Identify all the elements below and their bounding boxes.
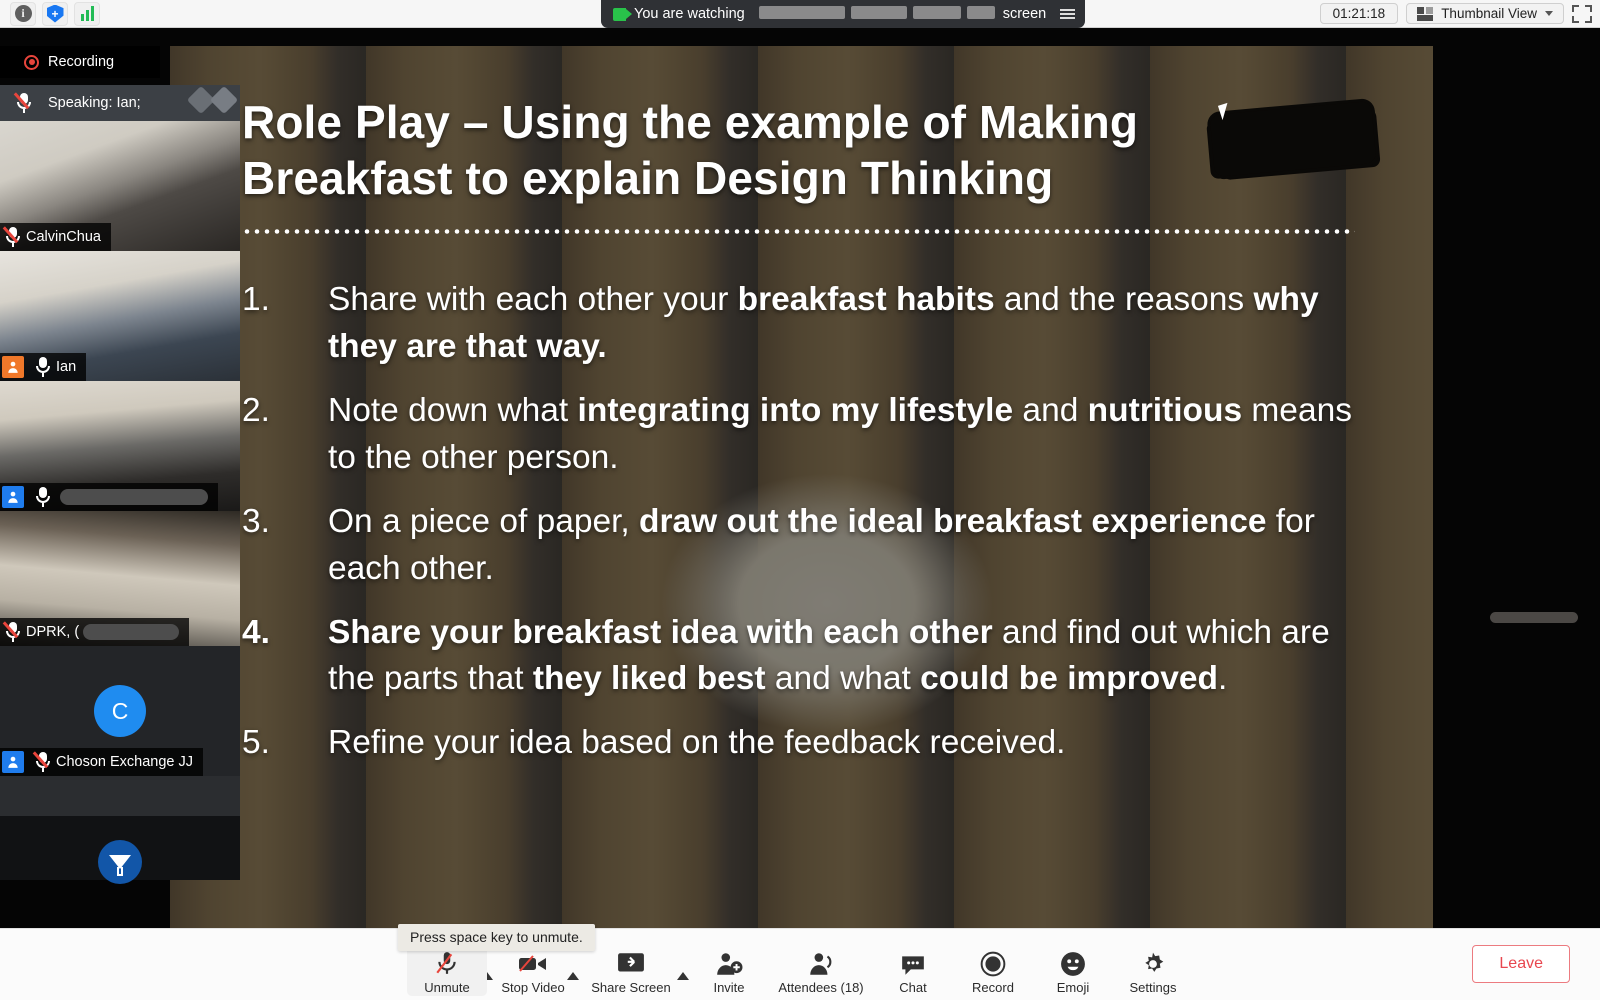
toolbar-button-invite[interactable]: Invite <box>689 934 769 996</box>
recording-indicator[interactable]: Recording <box>0 46 160 78</box>
mic-icon <box>30 487 56 507</box>
toolbar-button-label: Emoji <box>1057 981 1090 995</box>
redacted-screen-name <box>753 6 995 23</box>
avatar-badge-icon <box>2 751 24 773</box>
slide-step: 2.Note down what integrating into my lif… <box>242 388 1389 482</box>
step-text-plain: On a piece of paper, <box>328 503 639 540</box>
participant-tile[interactable] <box>0 381 240 511</box>
presentation-slide: Role Play – Using the example of Making … <box>170 46 1433 928</box>
step-text: Share with each other your breakfast hab… <box>328 277 1373 371</box>
redacted-block <box>851 6 907 19</box>
expand-icon[interactable] <box>1572 5 1592 23</box>
unmute-tooltip: Press space key to unmute. <box>398 924 595 951</box>
step-text: Share your breakfast idea with each othe… <box>328 610 1373 704</box>
os-icon-group: i + <box>0 2 100 26</box>
slide-step-list: 1.Share with each other your breakfast h… <box>242 277 1389 767</box>
signal-bars-icon[interactable] <box>74 2 100 26</box>
step-text-plain: and what <box>766 660 921 697</box>
record-dot-icon <box>24 55 39 70</box>
step-number: 2. <box>242 388 328 482</box>
participant-tile[interactable]: CalvinChua <box>0 121 240 251</box>
toolbar-button-label: Unmute <box>424 981 470 995</box>
toolbar-button-record[interactable]: Record <box>953 934 1033 996</box>
participant-name-bar: Ian <box>0 353 86 381</box>
step-text-plain: . <box>1218 660 1227 697</box>
redacted-block <box>967 6 995 19</box>
participant-name-bar: Choson Exchange JJ <box>0 748 203 776</box>
mic-muted-icon <box>0 93 48 113</box>
invite-person-icon <box>715 947 743 977</box>
toolbar-button-chat[interactable]: Chat <box>873 934 953 996</box>
attendees-icon <box>807 947 835 977</box>
gear-icon <box>1140 947 1166 977</box>
recording-label: Recording <box>48 54 114 70</box>
toolbar-button-label: Chat <box>899 981 926 995</box>
step-number: 5. <box>242 720 328 767</box>
participant-name: CalvinChua <box>26 229 101 245</box>
redacted-block <box>60 489 208 505</box>
participant-tiles: CalvinChuaIanDPRK, (CChoson Exchange JJ <box>0 121 240 816</box>
participant-name: Ian <box>56 359 76 375</box>
mic-muted-icon <box>434 947 460 977</box>
slide-title: Role Play – Using the example of Making … <box>242 94 1252 206</box>
participant-filmstrip: Speaking: Ian; CalvinChuaIanDPRK, (CChos… <box>0 85 240 880</box>
redacted-block <box>83 624 179 640</box>
toolbar-button-label: Stop Video <box>501 981 564 995</box>
toolbar-button-label: Settings <box>1130 981 1177 995</box>
avatar: C <box>94 685 146 737</box>
participant-name-bar: CalvinChua <box>0 223 111 251</box>
step-text-emphasis: integrating into my lifestyle <box>578 392 1014 429</box>
mic-muted-icon <box>30 752 56 772</box>
step-text-plain: Refine your idea based on the feedback r… <box>328 724 1066 761</box>
leave-button[interactable]: Leave <box>1472 945 1570 983</box>
panel-collapse-handle[interactable] <box>1490 612 1578 623</box>
slide-step: 5.Refine your idea based on the feedback… <box>242 720 1389 767</box>
step-number: 4. <box>242 610 328 704</box>
slide-step: 3.On a piece of paper, draw out the idea… <box>242 499 1389 593</box>
slide-content: Role Play – Using the example of Making … <box>170 46 1433 928</box>
shield-icon[interactable]: + <box>42 2 68 26</box>
bars-glyph <box>81 6 94 21</box>
mic-muted-icon <box>0 227 26 247</box>
step-text: Note down what integrating into my lifes… <box>328 388 1373 482</box>
redacted-block <box>759 6 845 19</box>
info-glyph: i <box>15 5 32 22</box>
speaker-icon <box>613 8 626 21</box>
step-text-emphasis: draw out the ideal breakfast experience <box>639 503 1266 540</box>
meeting-timer: 01:21:18 <box>1320 3 1399 24</box>
toolbar-button-attendees-18[interactable]: Attendees (18) <box>769 934 873 996</box>
avatar-badge-icon <box>2 486 24 508</box>
step-text: On a piece of paper, draw out the ideal … <box>328 499 1373 593</box>
filmstrip-filler <box>0 776 240 816</box>
step-text-emphasis: Share your breakfast idea with each othe… <box>328 614 993 651</box>
chevron-down-icon <box>1545 11 1553 16</box>
video-icon <box>518 947 548 977</box>
step-text-emphasis: breakfast habits <box>738 281 995 318</box>
step-text: Refine your idea based on the feedback r… <box>328 720 1373 767</box>
view-selector-label: Thumbnail View <box>1441 6 1537 21</box>
toolbar-button-label: Invite <box>713 981 744 995</box>
view-selector[interactable]: Thumbnail View <box>1406 3 1564 24</box>
toolbar-button-label: Record <box>972 981 1014 995</box>
scroll-down-icon[interactable] <box>98 840 142 884</box>
mic-icon <box>30 357 56 377</box>
step-number: 3. <box>242 499 328 593</box>
speaking-label: Speaking: Ian; <box>48 95 141 111</box>
participant-name: Choson Exchange JJ <box>56 754 193 770</box>
participant-tile[interactable]: CChoson Exchange JJ <box>0 646 240 776</box>
participant-name-bar <box>0 483 218 511</box>
mic-muted-icon <box>0 622 26 642</box>
step-text-emphasis: they liked best <box>533 660 766 697</box>
smiley-icon <box>1060 947 1086 977</box>
record-circle-icon <box>980 947 1006 977</box>
toolbar-button-settings[interactable]: Settings <box>1113 934 1193 996</box>
avatar-badge-icon <box>2 356 24 378</box>
layout-icon <box>1417 7 1433 21</box>
step-number: 1. <box>242 277 328 371</box>
step-text-emphasis: could be improved <box>920 660 1218 697</box>
hamburger-icon[interactable] <box>1060 9 1075 19</box>
slide-step: 1.Share with each other your breakfast h… <box>242 277 1389 371</box>
step-text-plain: and the reasons <box>995 281 1254 318</box>
speaking-bar: Speaking: Ian; <box>0 85 240 121</box>
toolbar-button-label: Share Screen <box>591 981 671 995</box>
shared-screen-stage: Role Play – Using the example of Making … <box>0 28 1600 928</box>
step-text-plain: Share with each other your <box>328 281 738 318</box>
shield-glyph: + <box>47 5 64 23</box>
share-banner-suffix: screen <box>1003 6 1047 22</box>
chat-bubble-icon <box>900 947 926 977</box>
info-icon[interactable]: i <box>10 2 36 26</box>
step-text-plain: Note down what <box>328 392 578 429</box>
slide-divider <box>242 228 1355 235</box>
share-screen-icon <box>617 947 645 977</box>
chevrons-icon[interactable] <box>191 90 234 110</box>
toolbar-button-label: Attendees (18) <box>778 981 863 995</box>
toolbar-button-emoji[interactable]: Emoji <box>1033 934 1113 996</box>
participant-name: DPRK, ( <box>26 624 79 640</box>
participant-tile[interactable]: DPRK, ( <box>0 511 240 646</box>
participant-name-bar: DPRK, ( <box>0 618 189 646</box>
share-banner-prefix: You are watching <box>634 6 745 22</box>
share-banner[interactable]: You are watching screen <box>601 0 1085 28</box>
redacted-block <box>913 6 961 19</box>
slide-step: 4.Share your breakfast idea with each ot… <box>242 610 1389 704</box>
step-text-emphasis: nutritious <box>1088 392 1242 429</box>
participant-tile[interactable]: Ian <box>0 251 240 381</box>
header-right-controls: 01:21:18 Thumbnail View <box>1320 3 1592 24</box>
meeting-toolbar: UnmuteStop VideoShare ScreenInviteAttend… <box>0 928 1600 1000</box>
step-text-plain: and <box>1013 392 1088 429</box>
